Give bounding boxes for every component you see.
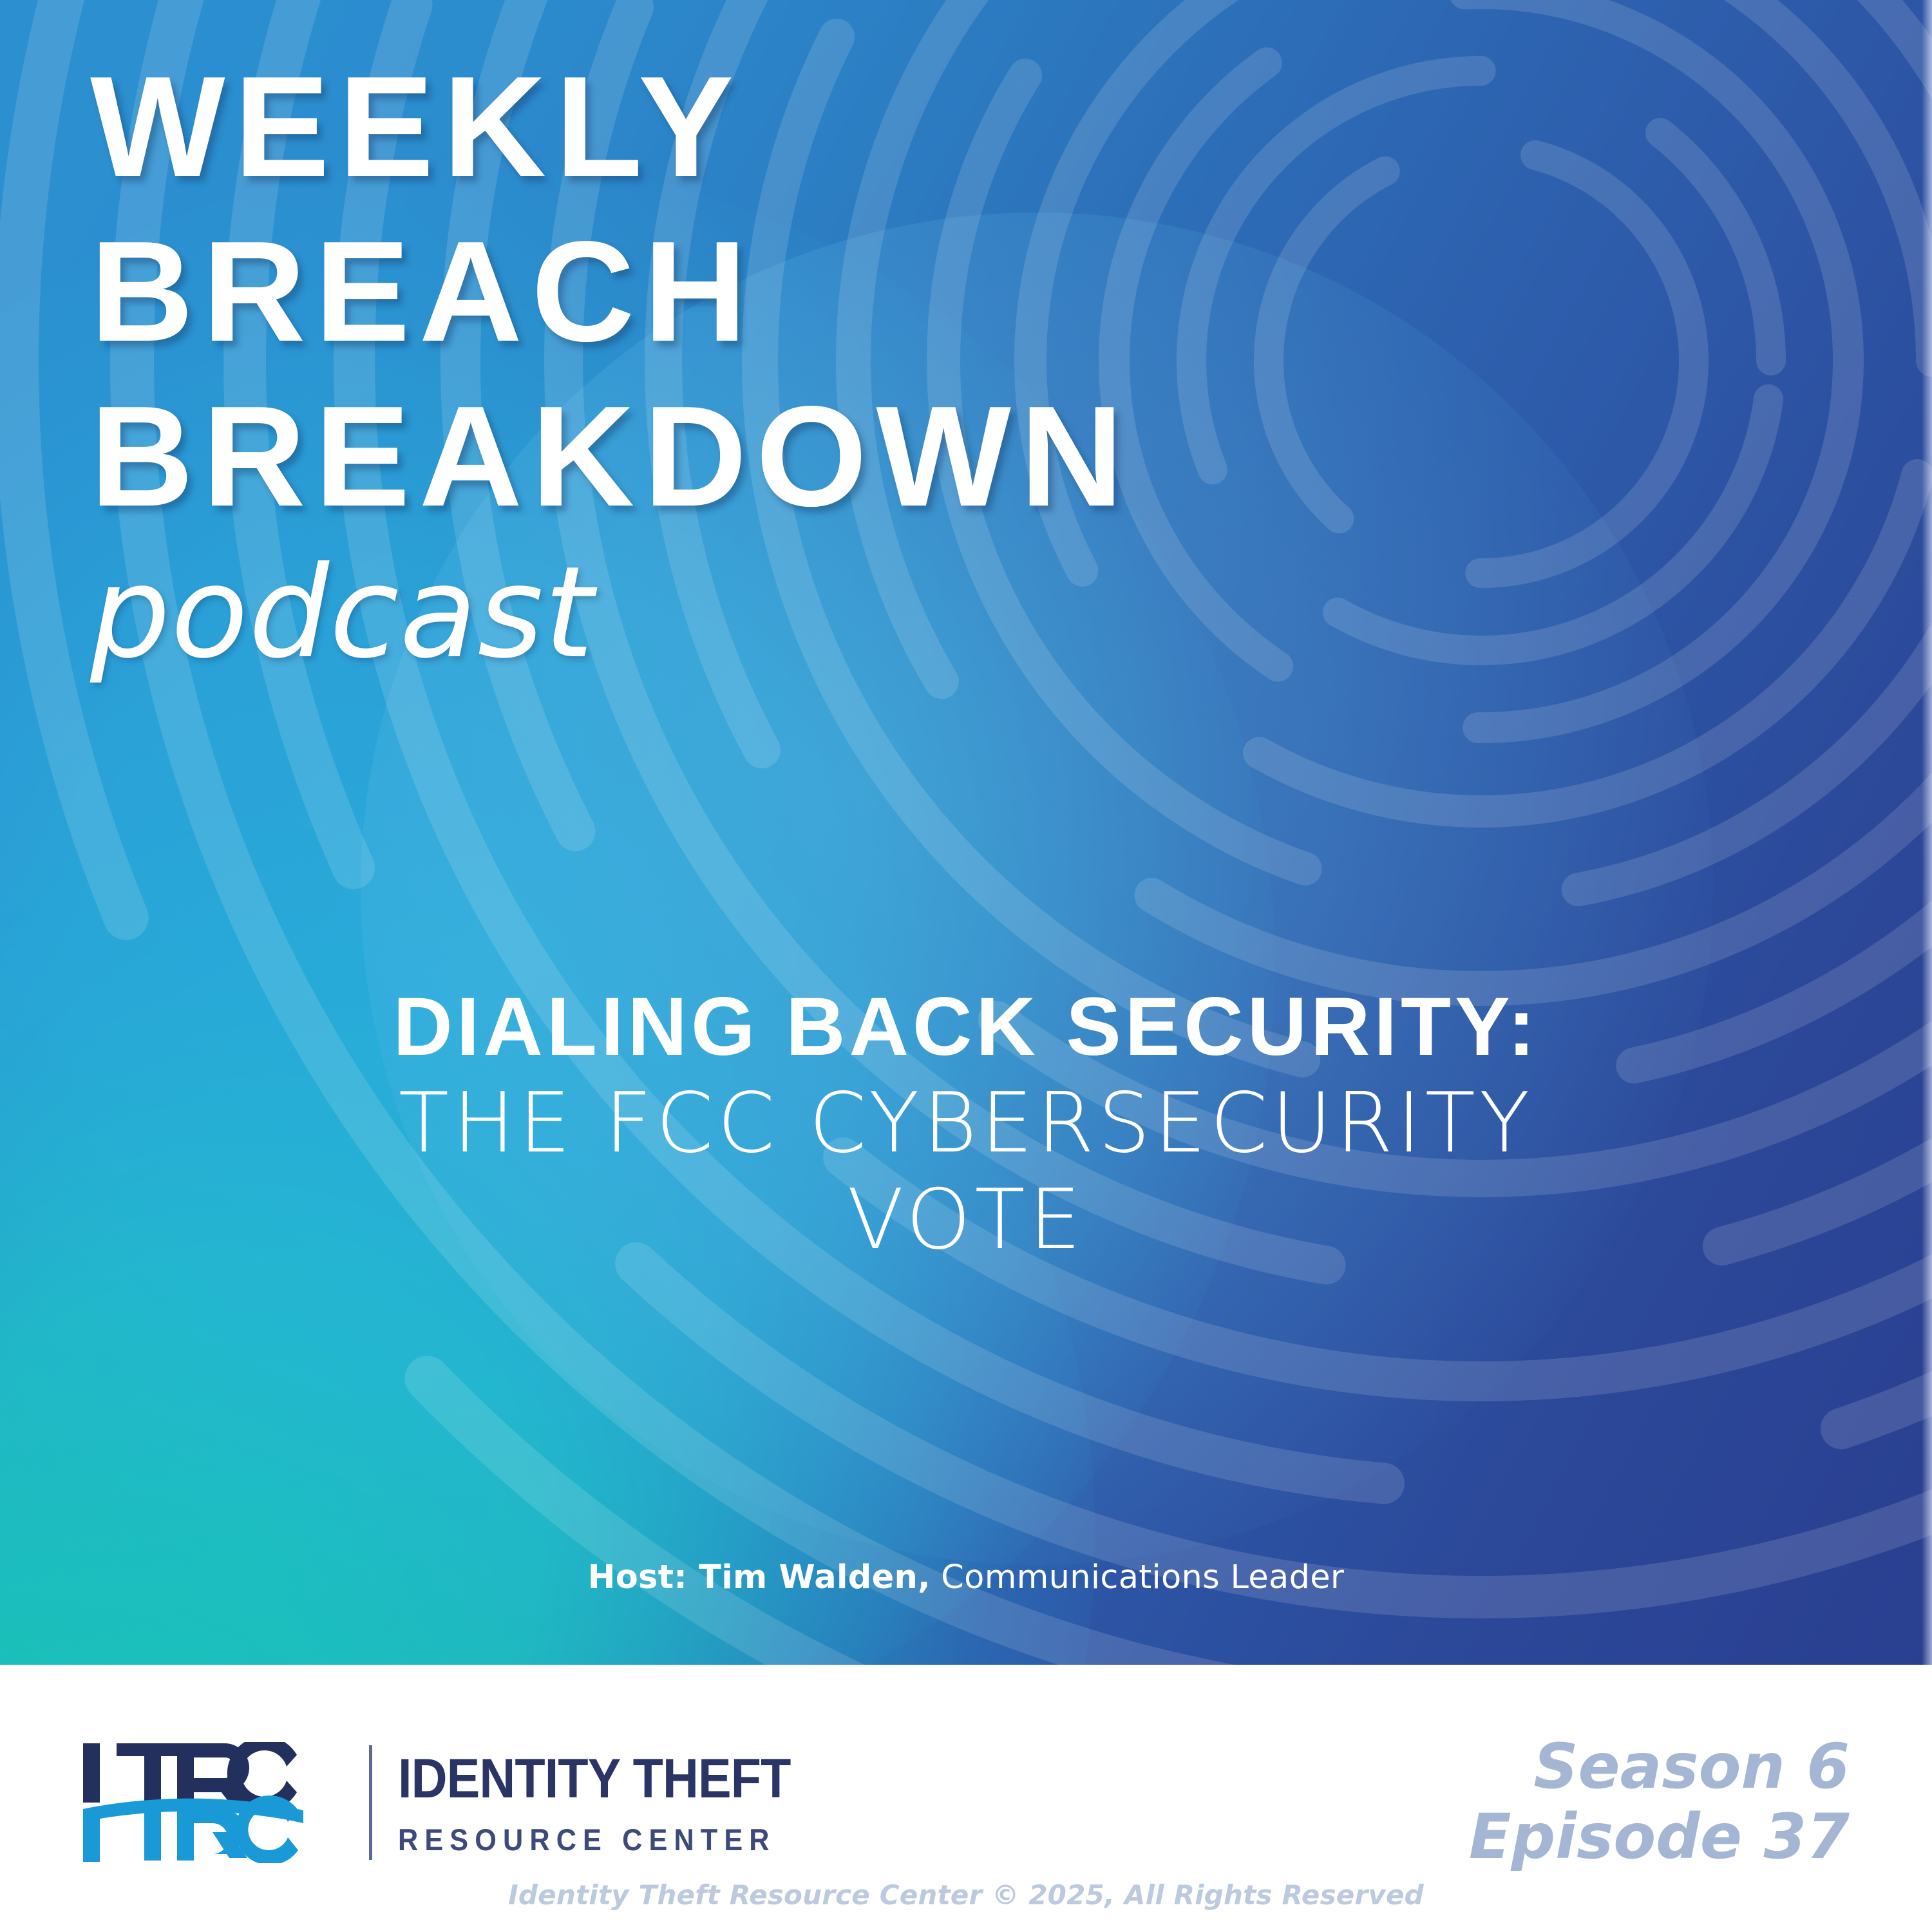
host-credit-line: Host: Tim Walden, Communications Leader [0, 1558, 1932, 1596]
brand-divider-rule [369, 1745, 372, 1860]
episode-title-line-2: THE FCC CYBERSECURITY [103, 1075, 1829, 1172]
host-role: Communications Leader [931, 1558, 1344, 1596]
itrc-brand-lockup: IDENTITY THEFT RESOURCE CENTER [80, 1742, 834, 1863]
show-title-line-2: BREACH [90, 220, 1636, 363]
season-episode-block: Season 6 Episode 37 [1469, 1732, 1850, 1873]
episode-title-block: DIALING BACK SECURITY: THE FCC CYBERSECU… [103, 979, 1829, 1268]
host-name: Host: Tim Walden, [588, 1558, 931, 1596]
episode-title-line-3: VOTE [103, 1172, 1829, 1269]
brand-wordmark: IDENTITY THEFT RESOURCE CENTER [398, 1751, 834, 1855]
episode-number: Episode 37 [1469, 1802, 1850, 1872]
season-number: Season 6 [1469, 1732, 1850, 1802]
episode-title-line-1: DIALING BACK SECURITY: [103, 979, 1829, 1075]
show-title-line-3: BREAKDOWN [90, 385, 1636, 528]
show-title-block: WEEKLY BREACH BREAKDOWN podcast [90, 55, 1636, 676]
brand-line-resource-center: RESOURCE CENTER [398, 1824, 799, 1855]
podcast-format-label: podcast [90, 550, 1636, 676]
itrc-logo-icon [80, 1742, 351, 1863]
show-title-line-1: WEEKLY [90, 55, 1636, 198]
right-edge-highlight [1922, 0, 1932, 1665]
podcast-cover-art: WEEKLY BREACH BREAKDOWN podcast DIALING … [0, 0, 1932, 1932]
brand-line-identity-theft: IDENTITY THEFT [398, 1751, 790, 1806]
copyright-notice: Identity Theft Resource Center © 2025, A… [0, 1879, 1932, 1911]
